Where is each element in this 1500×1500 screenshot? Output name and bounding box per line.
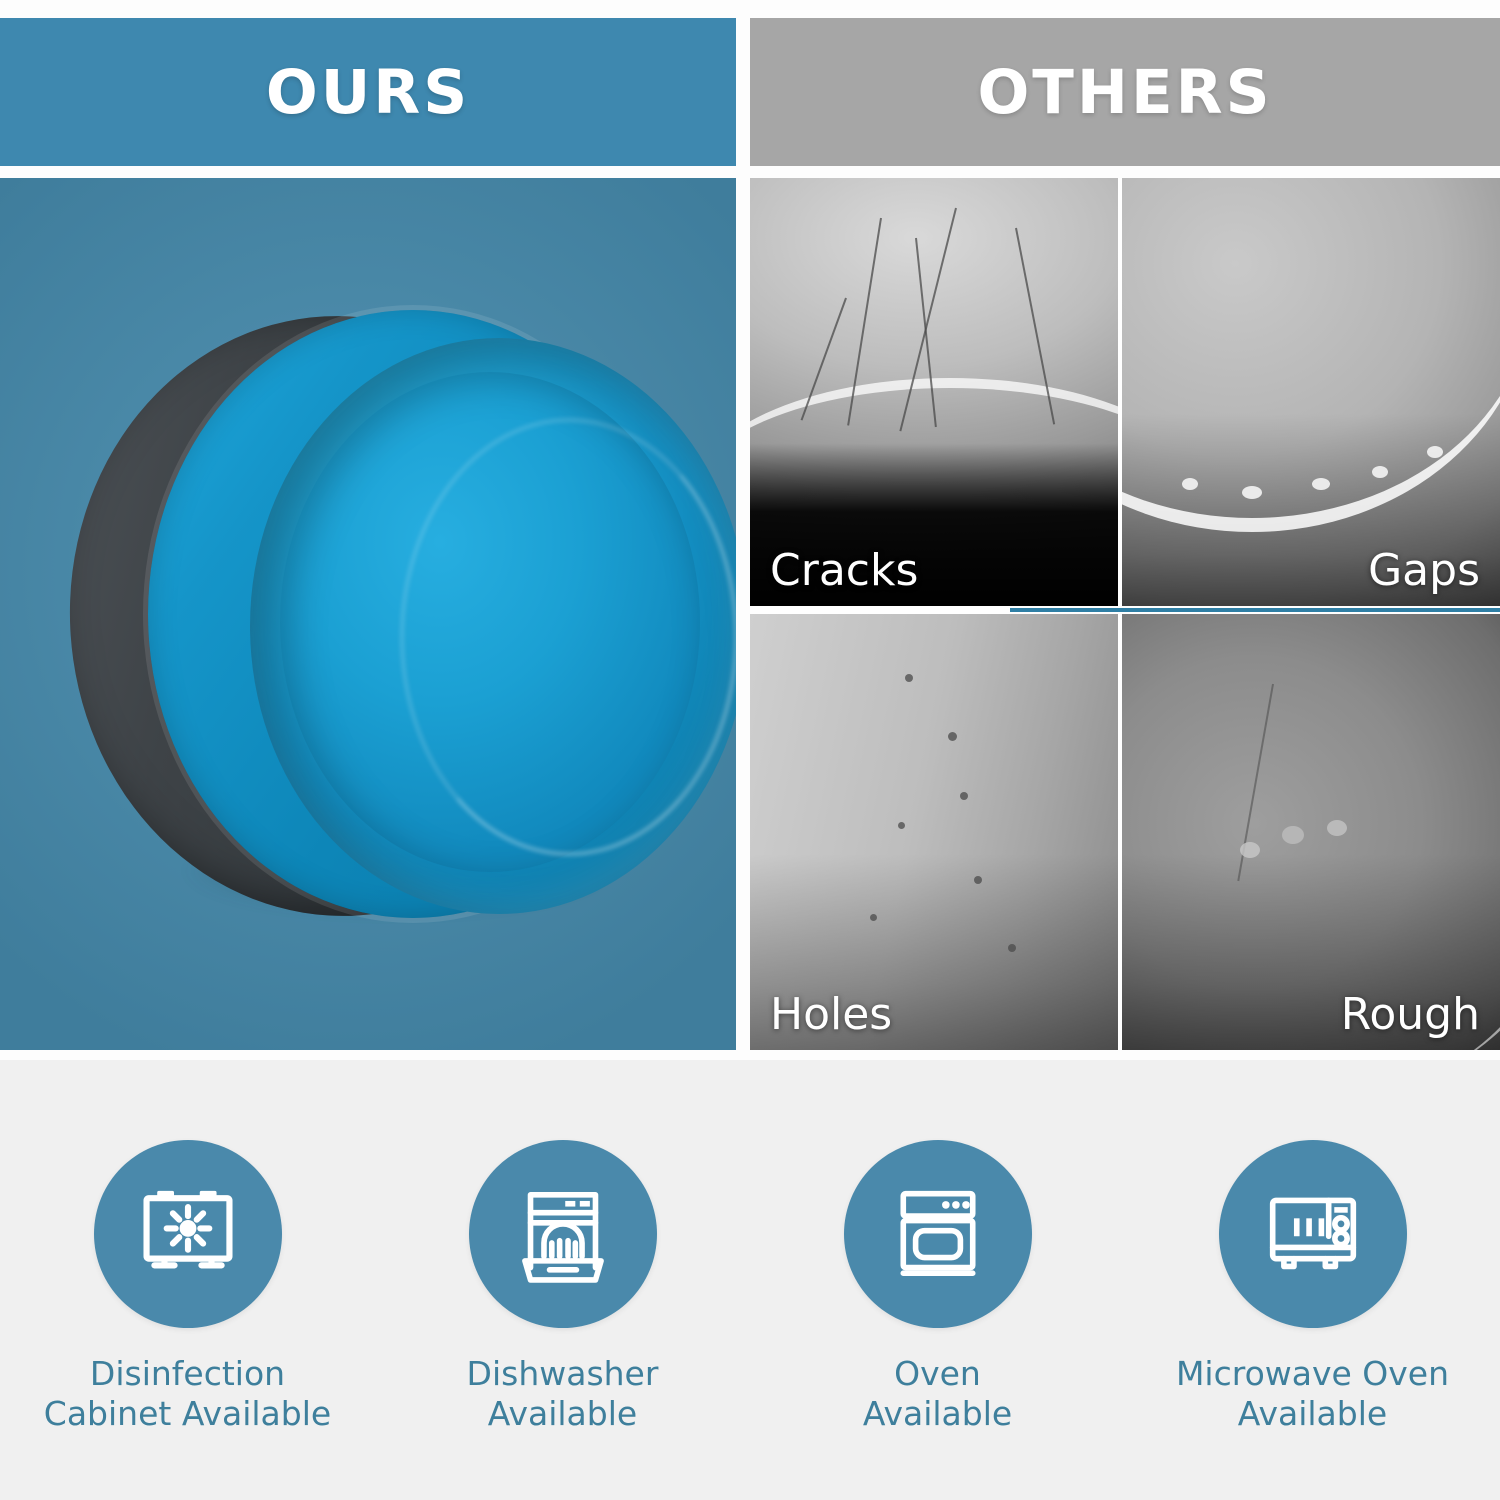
feature-line2: Available bbox=[1176, 1394, 1449, 1434]
microwave-oven-icon-circle bbox=[1219, 1140, 1407, 1328]
pinhole bbox=[948, 732, 957, 741]
pinhole bbox=[905, 674, 913, 682]
feature-caption: Oven Available bbox=[863, 1354, 1012, 1435]
disinfection-cabinet-icon-circle bbox=[94, 1140, 282, 1328]
feature-disinfection-cabinet[interactable]: Disinfection Cabinet Available bbox=[23, 1140, 353, 1435]
feature-microwave-oven[interactable]: Microwave Oven Available bbox=[1148, 1140, 1478, 1435]
feature-caption: Microwave Oven Available bbox=[1176, 1354, 1449, 1435]
bowl-highlight bbox=[400, 418, 736, 856]
pinhole bbox=[960, 792, 968, 800]
defect-label-rough: Rough bbox=[1341, 989, 1480, 1040]
defect-label-holes: Holes bbox=[770, 989, 892, 1040]
competitor-defect-grid: Cracks Gaps Holes bbox=[750, 178, 1500, 1050]
dishwasher-icon bbox=[507, 1178, 619, 1290]
feature-caption: Dishwasher Available bbox=[467, 1354, 659, 1435]
defect-cell-cracks: Cracks bbox=[750, 178, 1118, 606]
comparison-body: Cracks Gaps Holes bbox=[0, 178, 1500, 1050]
pinhole bbox=[898, 822, 905, 829]
feature-oven[interactable]: Oven Available bbox=[773, 1140, 1103, 1435]
defect-label-gaps: Gaps bbox=[1368, 545, 1480, 596]
grid-vertical-divider bbox=[1118, 178, 1122, 1050]
feature-line1: Microwave Oven bbox=[1176, 1354, 1449, 1393]
feature-line1: Disinfection bbox=[90, 1354, 285, 1393]
gap-bump bbox=[1182, 478, 1198, 490]
feature-caption: Disinfection Cabinet Available bbox=[44, 1354, 331, 1435]
defect-cell-holes: Holes bbox=[750, 614, 1118, 1050]
ours-label: OURS bbox=[266, 57, 470, 128]
defect-label-cracks: Cracks bbox=[770, 545, 918, 596]
defect-cell-rough: Rough bbox=[1122, 614, 1500, 1050]
pinhole bbox=[1008, 944, 1016, 952]
product-bowl-image bbox=[62, 298, 682, 938]
rim-arc bbox=[1122, 178, 1500, 532]
gap-bump bbox=[1312, 478, 1330, 490]
disinfection-cabinet-icon bbox=[132, 1178, 244, 1290]
oven-icon bbox=[882, 1178, 994, 1290]
bowl-interior bbox=[250, 338, 736, 914]
pinhole bbox=[974, 876, 982, 884]
pinhole bbox=[870, 914, 877, 921]
surface-blemish bbox=[1327, 820, 1347, 836]
others-label: OTHERS bbox=[977, 57, 1272, 128]
our-product-panel bbox=[0, 178, 736, 1050]
feature-dishwasher[interactable]: Dishwasher Available bbox=[398, 1140, 728, 1435]
dishwasher-icon-circle bbox=[469, 1140, 657, 1328]
microwave-oven-icon bbox=[1257, 1178, 1369, 1290]
oven-icon-circle bbox=[844, 1140, 1032, 1328]
grid-accent-line bbox=[1010, 608, 1500, 612]
gap-bump bbox=[1242, 486, 1262, 499]
feature-line2: Available bbox=[467, 1394, 659, 1434]
ours-header: OURS bbox=[0, 18, 736, 166]
feature-band: Disinfection Cabinet Available bbox=[0, 1060, 1500, 1500]
feature-line2: Available bbox=[863, 1394, 1012, 1434]
feature-line1: Oven bbox=[894, 1354, 981, 1393]
surface-blemish bbox=[1240, 842, 1260, 858]
surface-blemish bbox=[1282, 826, 1304, 844]
defect-cell-gaps: Gaps bbox=[1122, 178, 1500, 606]
comparison-infographic: OURS OTHERS bbox=[0, 0, 1500, 1500]
feature-line2: Cabinet Available bbox=[44, 1394, 331, 1434]
header-row: OURS OTHERS bbox=[0, 18, 1500, 166]
bowl-rim bbox=[148, 310, 678, 918]
others-header: OTHERS bbox=[750, 18, 1500, 166]
feature-line1: Dishwasher bbox=[467, 1354, 659, 1393]
gap-bump bbox=[1372, 466, 1388, 478]
gap-bump bbox=[1427, 446, 1443, 458]
